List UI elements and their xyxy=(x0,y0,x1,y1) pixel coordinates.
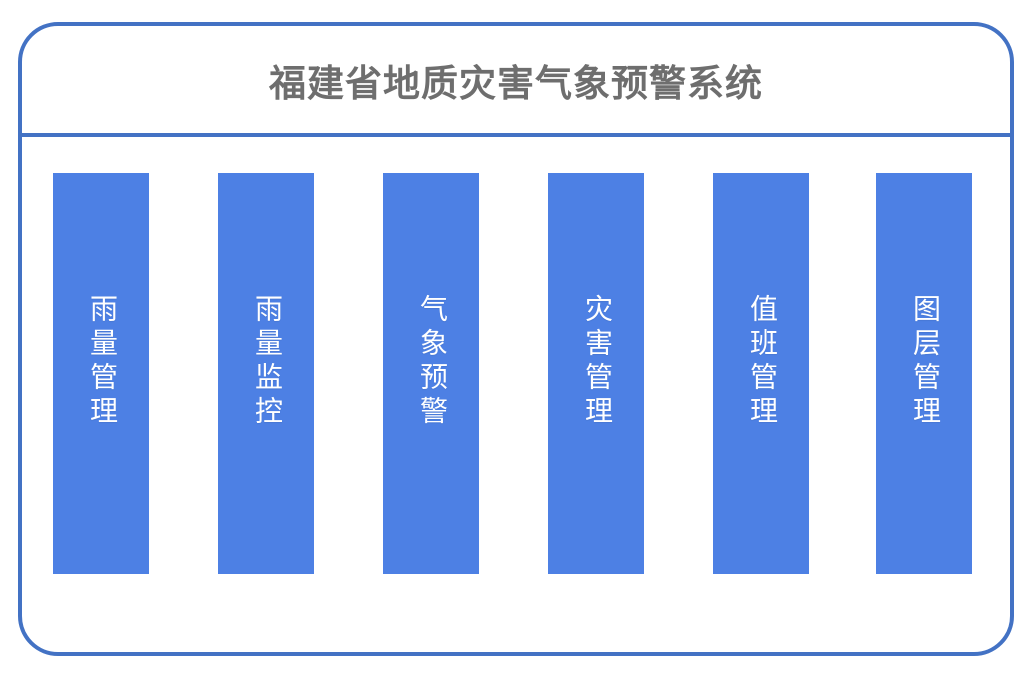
module-bar-label: 灾害管理 xyxy=(579,294,613,430)
module-bar-rainfall-monitoring[interactable]: 雨量监控 xyxy=(218,173,314,574)
module-bar-layer-management[interactable]: 图层管理 xyxy=(876,173,972,574)
module-bar-label: 图层管理 xyxy=(907,294,941,430)
module-bar-label: 雨量监控 xyxy=(249,294,283,430)
diagram-canvas: 福建省地质灾害气象预警系统 雨量管理 雨量监控 气象预警 灾害管理 值班管理 图… xyxy=(0,0,1036,675)
page-title: 福建省地质灾害气象预警系统 xyxy=(269,53,763,107)
module-bar-label: 雨量管理 xyxy=(84,294,118,430)
module-bar-label: 值班管理 xyxy=(744,294,778,430)
module-bars-row: 雨量管理 雨量监控 气象预警 灾害管理 值班管理 图层管理 xyxy=(53,173,971,574)
module-bar-duty-management[interactable]: 值班管理 xyxy=(713,173,809,574)
module-bar-label: 气象预警 xyxy=(414,294,448,430)
module-bar-disaster-management[interactable]: 灾害管理 xyxy=(548,173,644,574)
module-bar-weather-warning[interactable]: 气象预警 xyxy=(383,173,479,574)
module-bar-rainfall-management[interactable]: 雨量管理 xyxy=(53,173,149,574)
title-divider xyxy=(20,133,1012,137)
title-band: 福建省地质灾害气象预警系统 xyxy=(18,22,1014,137)
